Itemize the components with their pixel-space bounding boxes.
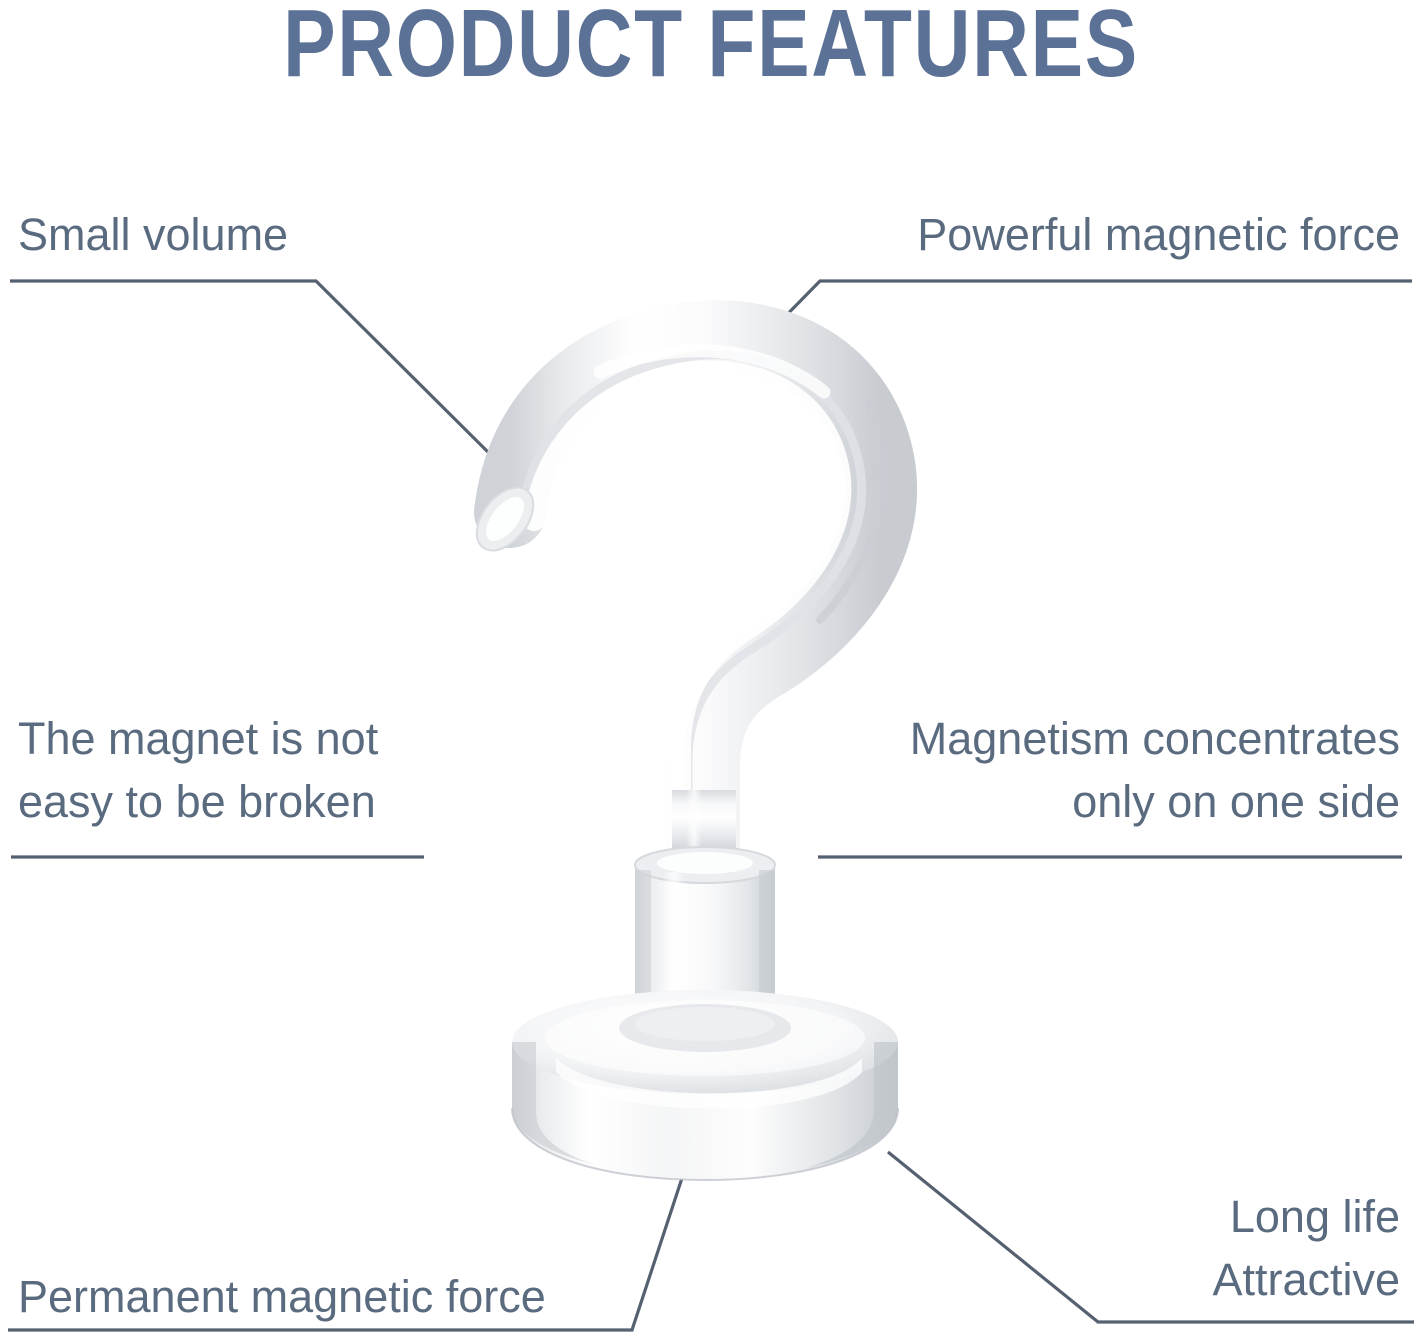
product-illustration-canvas [0, 0, 1422, 1337]
feature-label-magnetism-one-side: Magnetism concentrates only on one side [910, 707, 1400, 833]
hook-shaft [672, 790, 736, 852]
leader-line-powerful-magnetic-force [762, 281, 1412, 340]
magnet-disc-base [512, 990, 898, 1180]
feature-label-small-volume: Small volume [18, 203, 288, 266]
hook-shaft-gloss [686, 790, 702, 852]
feature-label-long-life-attractive: Long life Attractive [1212, 1185, 1400, 1311]
feature-label-magnet-not-broken: The magnet is not easy to be broken [18, 707, 378, 833]
magnetic-hook-product [465, 336, 898, 1180]
leader-line-small-volume [10, 281, 498, 462]
feature-label-powerful-magnetic-force: Powerful magnetic force [917, 203, 1400, 266]
feature-label-permanent-magnetic-force: Permanent magnetic force [18, 1265, 546, 1328]
